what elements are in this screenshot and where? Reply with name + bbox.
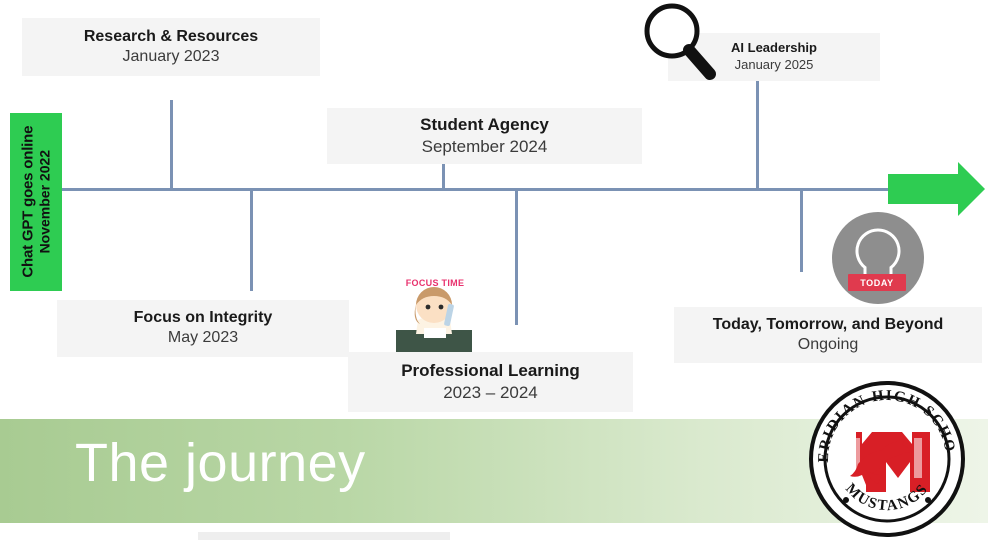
start-marker-date: November 2022 xyxy=(37,126,53,278)
banner-title: The journey xyxy=(75,432,366,494)
focus-time-caption: FOCUS TIME xyxy=(400,278,470,288)
tick-integrity xyxy=(250,191,253,291)
event-date: Ongoing xyxy=(798,335,859,356)
event-date: January 2023 xyxy=(123,47,220,68)
event-label-professional-learning: Professional Learning 2023 – 2024 xyxy=(348,352,633,412)
event-title: Research & Resources xyxy=(84,27,258,47)
tick-professional-learning xyxy=(515,191,518,325)
timeline-axis xyxy=(58,188,908,191)
event-label-student-agency: Student Agency September 2024 xyxy=(327,108,642,164)
tick-today xyxy=(800,191,803,272)
event-title: Student Agency xyxy=(420,114,549,135)
tick-research xyxy=(170,100,173,189)
right-arrow-icon xyxy=(888,160,986,218)
event-date: September 2024 xyxy=(422,136,548,158)
start-marker-title: Chat GPT goes online xyxy=(19,126,36,278)
magnifier-icon xyxy=(640,2,722,82)
today-badge: TODAY xyxy=(848,274,906,291)
event-label-integrity: Focus on Integrity May 2023 xyxy=(57,300,349,357)
event-title: Today, Tomorrow, and Beyond xyxy=(713,315,944,335)
event-label-today: Today, Tomorrow, and Beyond Ongoing xyxy=(674,307,982,363)
lightbulb-today-marker: TODAY xyxy=(832,212,924,304)
event-date: May 2023 xyxy=(168,328,238,349)
event-date: 2023 – 2024 xyxy=(443,382,538,404)
timeline-start-marker: Chat GPT goes online November 2022 xyxy=(10,113,62,291)
event-title: AI Leadership xyxy=(731,40,817,56)
tick-student-agency xyxy=(442,162,445,189)
event-title: Professional Learning xyxy=(401,360,580,381)
event-date: January 2025 xyxy=(735,57,814,74)
event-label-research: Research & Resources January 2023 xyxy=(22,18,320,76)
decorative-placeholder-box xyxy=(198,532,450,540)
tick-ai-leadership xyxy=(756,78,759,189)
slide-canvas: Chat GPT goes online November 2022 Resea… xyxy=(0,0,988,540)
today-badge-label: TODAY xyxy=(860,278,894,288)
school-seal-logo: MERIDIAN HIGH SCHOOL MUSTANGS xyxy=(806,378,968,540)
event-title: Focus on Integrity xyxy=(134,308,273,328)
